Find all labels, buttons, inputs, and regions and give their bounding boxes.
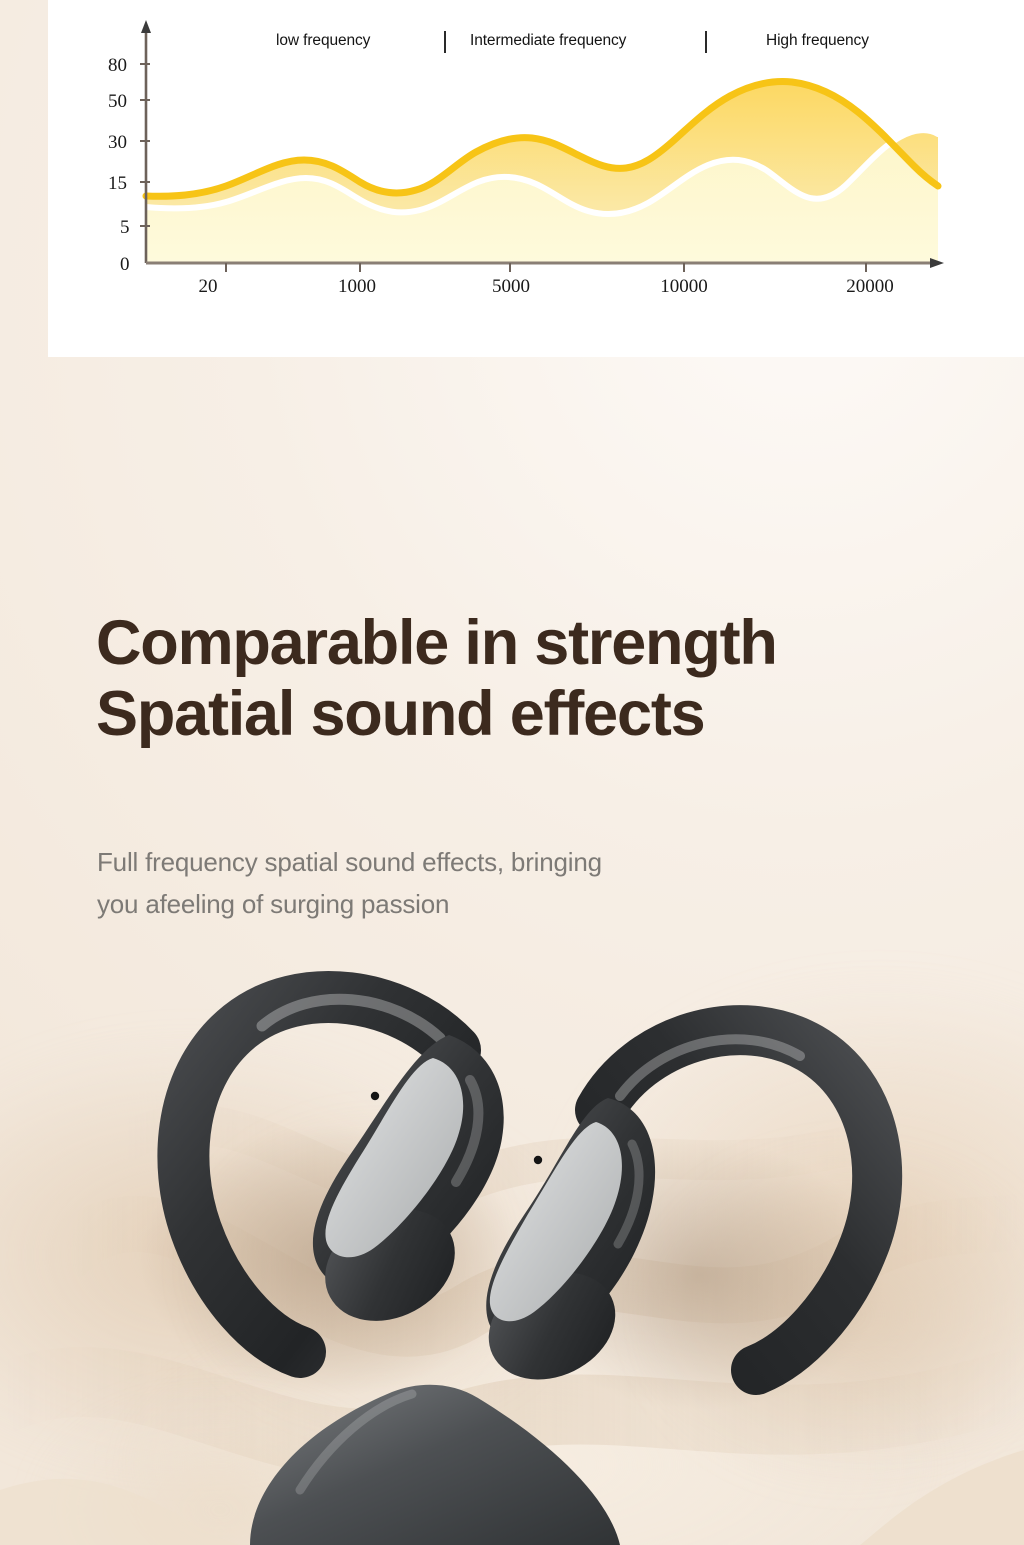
x-tick-label: 20000 <box>846 276 894 297</box>
y-tick-label: 15 <box>108 173 127 194</box>
y-tick-label: 80 <box>108 55 127 76</box>
y-axis-arrow-icon <box>141 20 151 33</box>
subtitle-line-1: Full frequency spatial sound effects, br… <box>97 841 857 883</box>
y-tick-label: 30 <box>108 132 127 153</box>
frequency-response-chart-panel: low frequency Intermediate frequency Hig… <box>48 0 1024 357</box>
x-tick-label: 10000 <box>660 276 708 297</box>
x-tick-label: 5000 <box>492 276 530 297</box>
x-tick-label: 1000 <box>338 276 376 297</box>
page-subtitle: Full frequency spatial sound effects, br… <box>97 841 857 925</box>
page-title: Comparable in strength Spatial sound eff… <box>96 608 976 749</box>
y-tick-label: 5 <box>120 217 130 238</box>
subtitle-line-2: you afeeling of surging passion <box>97 883 857 925</box>
left-earbud-mic-hole <box>371 1092 379 1100</box>
headline-line-2: Spatial sound effects <box>96 679 976 750</box>
product-photo <box>0 930 1024 1545</box>
right-earbud-mic-hole <box>534 1156 542 1164</box>
headline-line-1: Comparable in strength <box>96 608 976 679</box>
y-tick-label: 0 <box>120 254 130 275</box>
page-root: low frequency Intermediate frequency Hig… <box>0 0 1024 1545</box>
y-tick-label: 50 <box>108 91 127 112</box>
frequency-response-plot: 80 50 30 15 5 0 20 1000 5000 10000 20000 <box>48 0 1024 357</box>
x-tick-label: 20 <box>199 276 218 297</box>
